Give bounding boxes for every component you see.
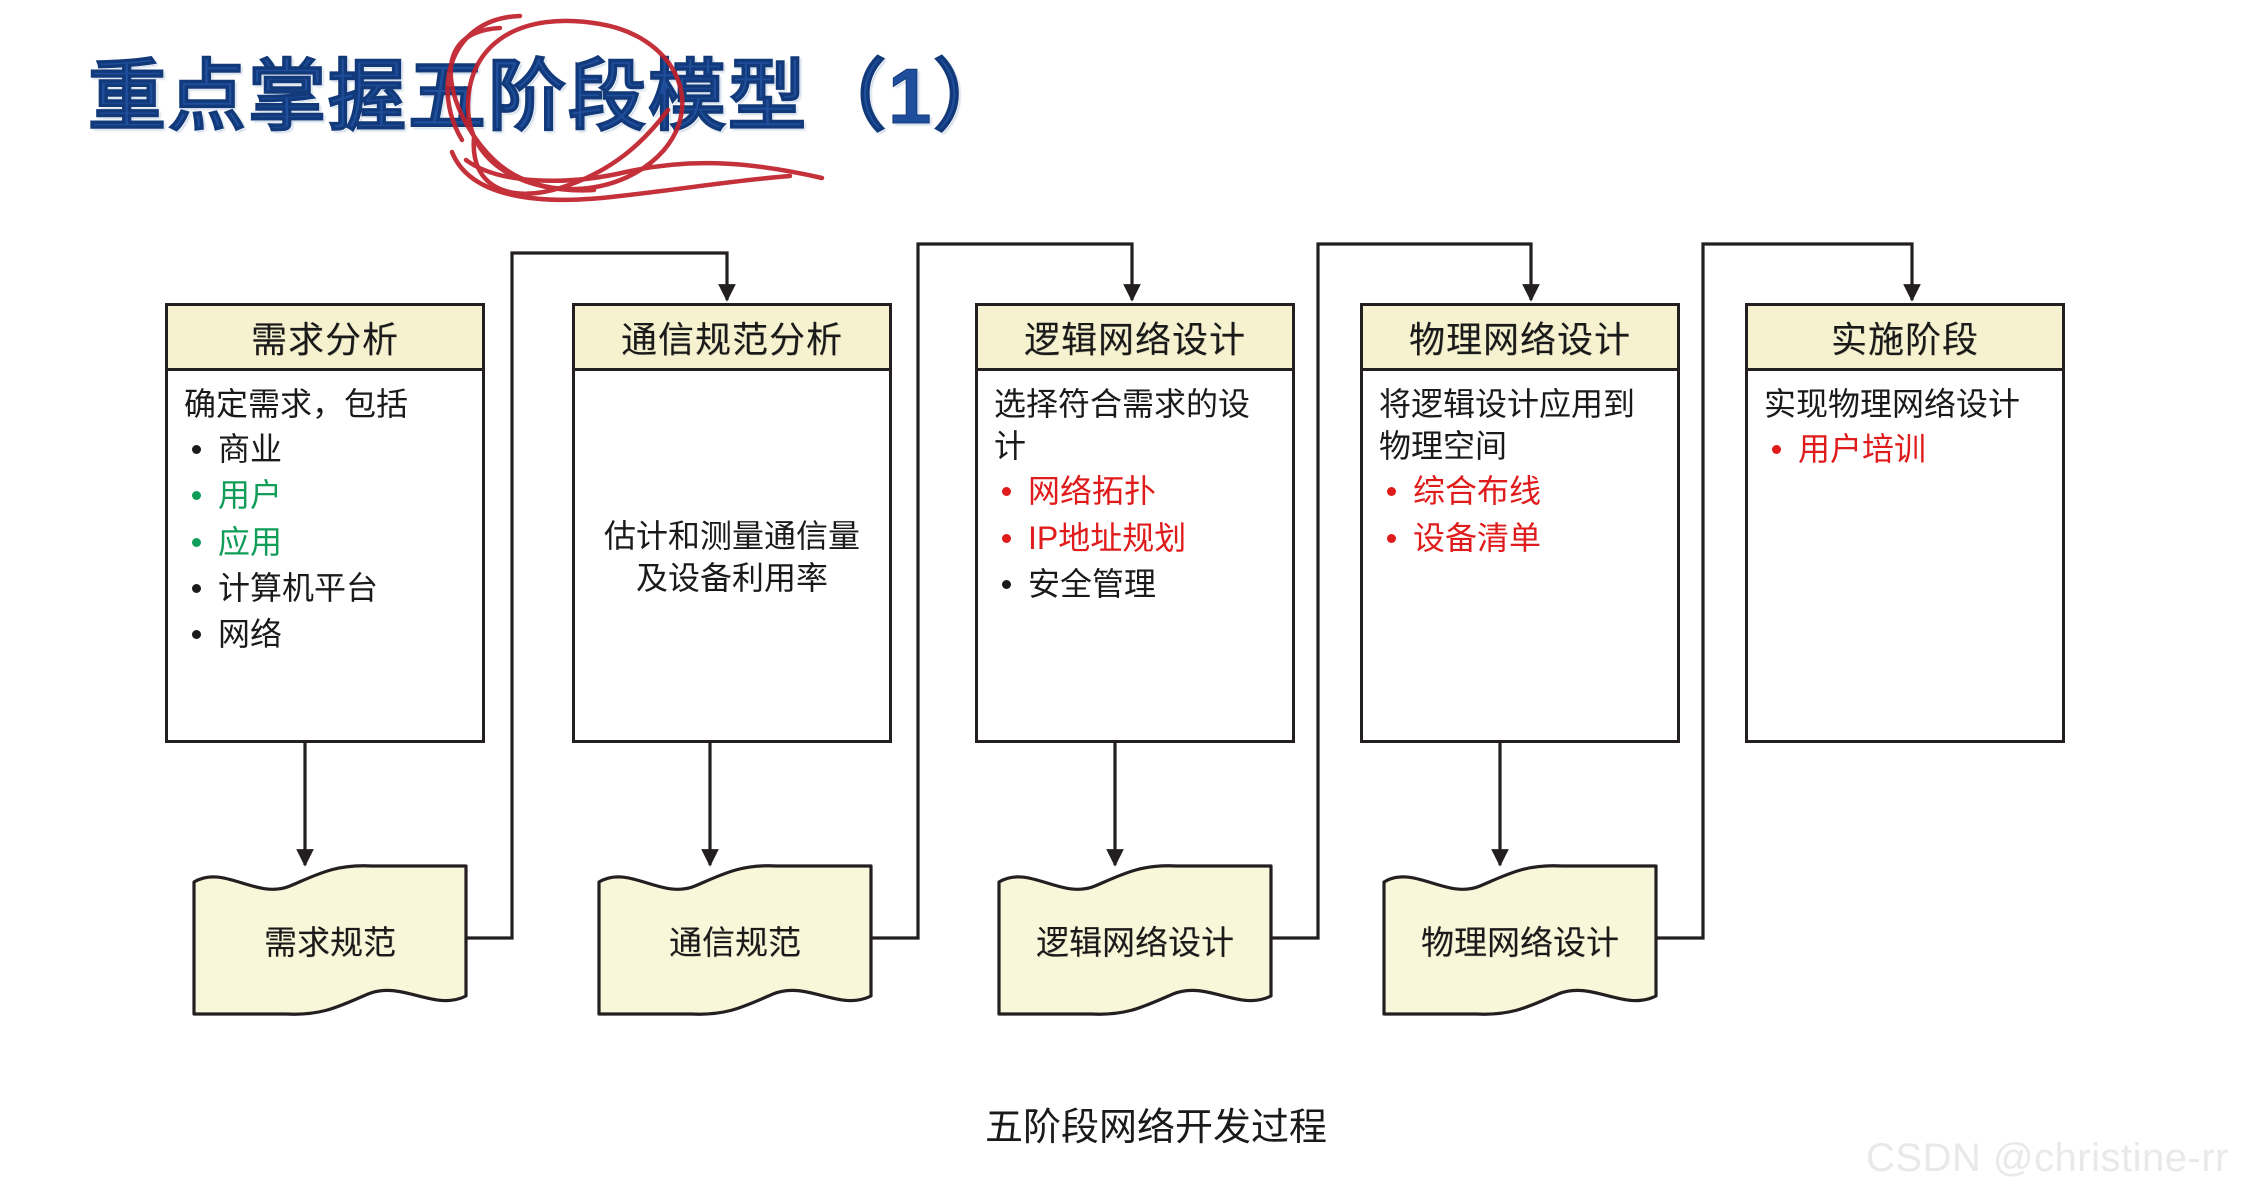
figure-caption-text: 五阶段网络开发过程: [925, 1107, 1327, 1149]
list-item: 商业: [184, 427, 468, 471]
list-item: 综合布线: [1379, 469, 1663, 513]
list-item: 网络拓扑: [994, 469, 1278, 513]
phase-box-1[interactable]: 需求分析 确定需求，包括 商业 用户 应用 计算机平台 网络: [165, 303, 485, 743]
phase-box-4[interactable]: 物理网络设计 将逻辑设计应用到物理空间 综合布线 设备清单: [1360, 303, 1680, 743]
list-item: 用户: [184, 473, 468, 517]
phase-bullets-1: 商业 用户 应用 计算机平台 网络: [184, 427, 468, 656]
phase-box-5[interactable]: 实施阶段 实现物理网络设计 用户培训: [1745, 303, 2065, 743]
csdn-watermark: CSDN @christine-rr: [1866, 1136, 2229, 1181]
phase-lead-3: 选择符合需求的设计: [994, 383, 1278, 467]
phase-body-3: 选择符合需求的设计 网络拓扑 IP地址规划 安全管理: [978, 371, 1292, 616]
phase-lead-4: 将逻辑设计应用到物理空间: [1379, 383, 1663, 467]
phase-body-5: 实现物理网络设计 用户培训: [1748, 371, 2062, 481]
phase-body-2: 估计和测量通信量及设备利用率: [575, 371, 889, 743]
phase-header-3: 逻辑网络设计: [978, 306, 1292, 371]
phase-header-4: 物理网络设计: [1363, 306, 1677, 371]
document-shape-3[interactable]: 逻辑网络设计: [995, 860, 1275, 1020]
phase-bullets-5: 用户培训: [1764, 427, 2048, 471]
phase-box-3[interactable]: 逻辑网络设计 选择符合需求的设计 网络拓扑 IP地址规划 安全管理: [975, 303, 1295, 743]
document-shape-2[interactable]: 通信规范: [595, 860, 875, 1020]
document-shape-1[interactable]: 需求规范: [190, 860, 470, 1020]
phase-bullets-3: 网络拓扑 IP地址规划 安全管理: [994, 469, 1278, 605]
document-shape-4[interactable]: 物理网络设计: [1380, 860, 1660, 1020]
list-item: 设备清单: [1379, 516, 1663, 560]
phase-lead-5: 实现物理网络设计: [1764, 383, 2048, 425]
phase-header-1: 需求分析: [168, 306, 482, 371]
slide-canvas: 重点掌握五阶段模型（1）: [0, 0, 2252, 1202]
phase-body-1: 确定需求，包括 商业 用户 应用 计算机平台 网络: [168, 371, 482, 666]
phase-body-4: 将逻辑设计应用到物理空间 综合布线 设备清单: [1363, 371, 1677, 570]
list-item: 计算机平台: [184, 566, 468, 610]
list-item: 网络: [184, 612, 468, 656]
phase-box-2[interactable]: 通信规范分析 估计和测量通信量及设备利用率: [572, 303, 892, 743]
list-item: IP地址规划: [994, 516, 1278, 560]
phase-bullets-4: 综合布线 设备清单: [1379, 469, 1663, 559]
phase-lead-1: 确定需求，包括: [184, 383, 468, 425]
phase-header-2: 通信规范分析: [575, 306, 889, 371]
list-item: 应用: [184, 520, 468, 564]
list-item: 用户培训: [1764, 427, 2048, 471]
list-item: 安全管理: [994, 562, 1278, 606]
phase-header-5: 实施阶段: [1748, 306, 2062, 371]
